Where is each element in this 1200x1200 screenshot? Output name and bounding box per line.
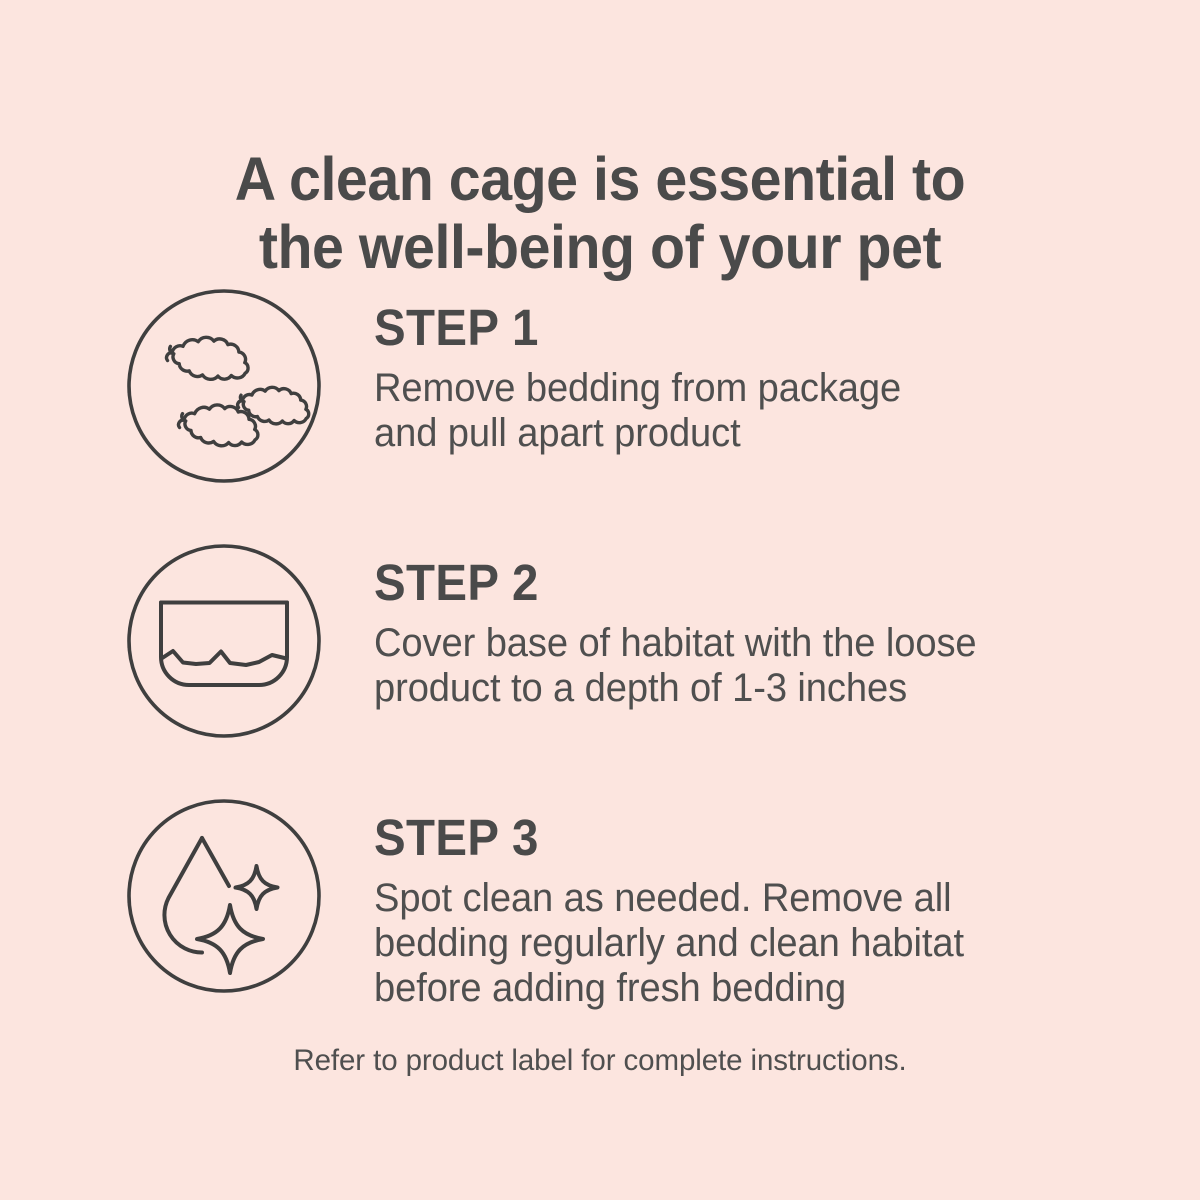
step-item: STEP 2 Cover base of habitat with the lo… [0, 541, 1200, 796]
droplet-sparkle-clean-icon [126, 798, 322, 994]
steps-list: STEP 1 Remove bedding from package and p… [0, 286, 1200, 1051]
step-text-block: STEP 1 Remove bedding from package and p… [374, 302, 1164, 456]
step-label: STEP 1 [374, 302, 1109, 353]
step-description: Spot clean as needed. Remove all bedding… [374, 876, 1136, 1011]
footer-note: Refer to product label for complete inst… [0, 1043, 1200, 1078]
step-label: STEP 3 [374, 812, 1109, 863]
step-text-block: STEP 3 Spot clean as needed. Remove all … [374, 812, 1164, 1011]
page-title: A clean cage is essential to the well-be… [36, 145, 1164, 282]
step-item: STEP 1 Remove bedding from package and p… [0, 286, 1200, 541]
step-description: Remove bedding from package and pull apa… [374, 366, 1136, 456]
step-item: STEP 3 Spot clean as needed. Remove all … [0, 796, 1200, 1051]
instructions-poster: A clean cage is essential to the well-be… [0, 0, 1200, 1200]
step-description: Cover base of habitat with the loose pro… [374, 621, 1136, 711]
bedding-clumps-icon [126, 288, 322, 484]
step-text-block: STEP 2 Cover base of habitat with the lo… [374, 557, 1164, 711]
habitat-bedding-depth-icon [126, 543, 322, 739]
step-label: STEP 2 [374, 557, 1109, 608]
